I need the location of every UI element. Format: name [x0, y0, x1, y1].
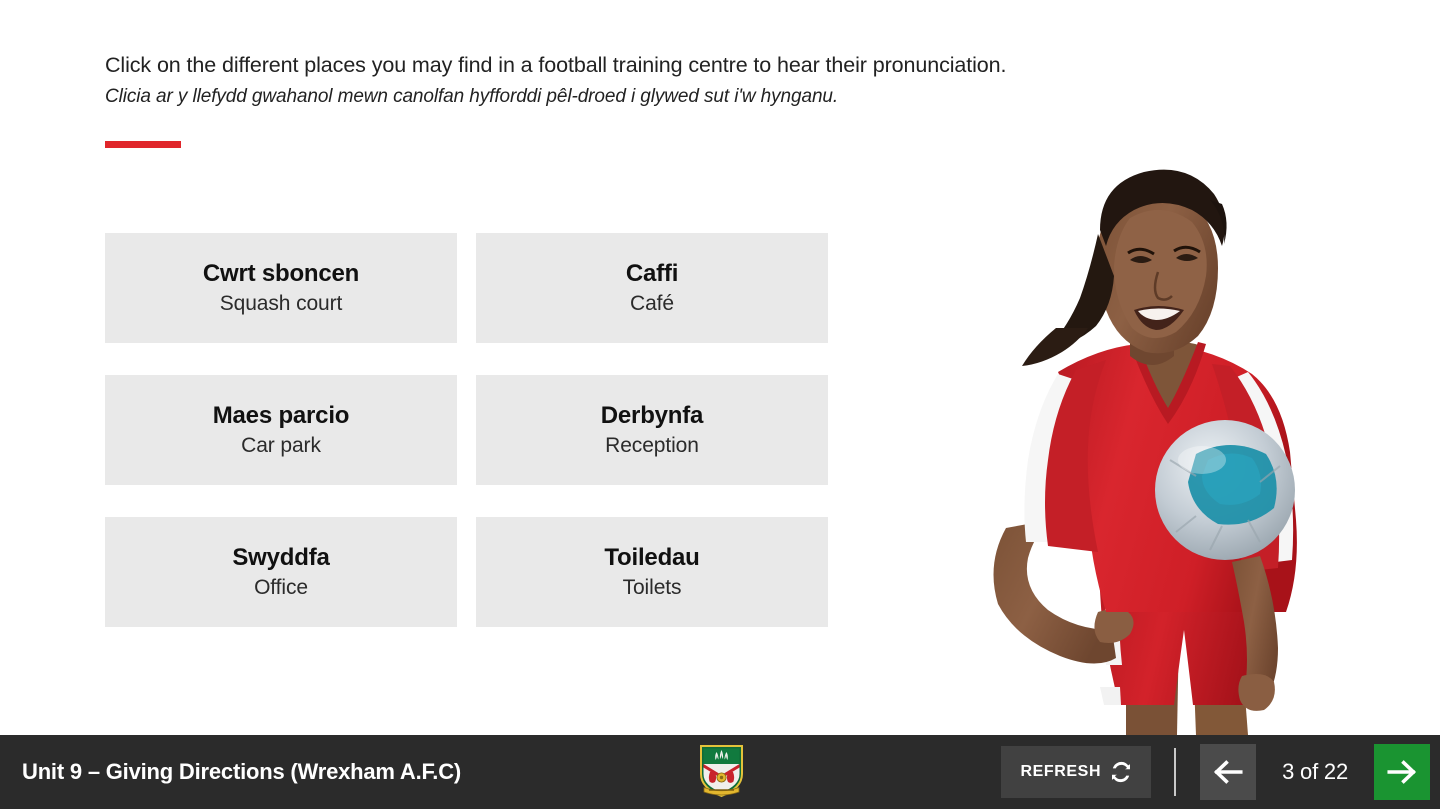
tile-english-label: Toilets — [623, 574, 682, 602]
red-accent-rule — [105, 141, 181, 148]
tile-maes-parcio[interactable]: Maes parcio Car park — [105, 375, 457, 485]
vocabulary-tile-grid: Cwrt sboncen Squash court Caffi Café Mae… — [105, 233, 828, 627]
wrexham-afc-crest-icon — [698, 742, 745, 798]
tile-cwrt-sboncen[interactable]: Cwrt sboncen Squash court — [105, 233, 457, 343]
instruction-block: Click on the different places you may fi… — [105, 50, 1205, 111]
previous-page-button[interactable] — [1200, 744, 1256, 800]
tile-derbynfa[interactable]: Derbynfa Reception — [476, 375, 828, 485]
tile-english-label: Car park — [241, 432, 321, 460]
tile-english-label: Squash court — [220, 290, 343, 318]
tile-welsh-label: Derbynfa — [601, 401, 703, 431]
tile-swyddfa[interactable]: Swyddfa Office — [105, 517, 457, 627]
tile-english-label: Reception — [605, 432, 699, 460]
next-page-button[interactable] — [1374, 744, 1430, 800]
arrow-right-icon — [1385, 755, 1419, 789]
lesson-title: Unit 9 – Giving Directions (Wrexham A.F.… — [22, 759, 461, 785]
tile-welsh-label: Cwrt sboncen — [203, 259, 359, 289]
tile-english-label: Café — [630, 290, 674, 318]
tile-english-label: Office — [254, 574, 308, 602]
instruction-english: Click on the different places you may fi… — [105, 50, 1205, 80]
tile-caffi[interactable]: Caffi Café — [476, 233, 828, 343]
refresh-label: REFRESH — [1020, 763, 1101, 781]
footer-controls: REFRESH 3 of 22 — [1001, 735, 1430, 809]
refresh-icon — [1110, 761, 1132, 783]
tile-welsh-label: Caffi — [626, 259, 678, 289]
instruction-welsh: Clicia ar y llefydd gwahanol mewn canolf… — [105, 83, 1205, 111]
tile-toiledau[interactable]: Toiledau Toilets — [476, 517, 828, 627]
arrow-left-icon — [1211, 755, 1245, 789]
refresh-button[interactable]: REFRESH — [1001, 746, 1151, 798]
tile-welsh-label: Toiledau — [604, 543, 699, 573]
tile-welsh-label: Maes parcio — [213, 401, 350, 431]
footballer-photo — [930, 160, 1370, 735]
footer-divider — [1174, 748, 1176, 796]
page-counter: 3 of 22 — [1256, 759, 1374, 785]
tile-welsh-label: Swyddfa — [232, 543, 329, 573]
